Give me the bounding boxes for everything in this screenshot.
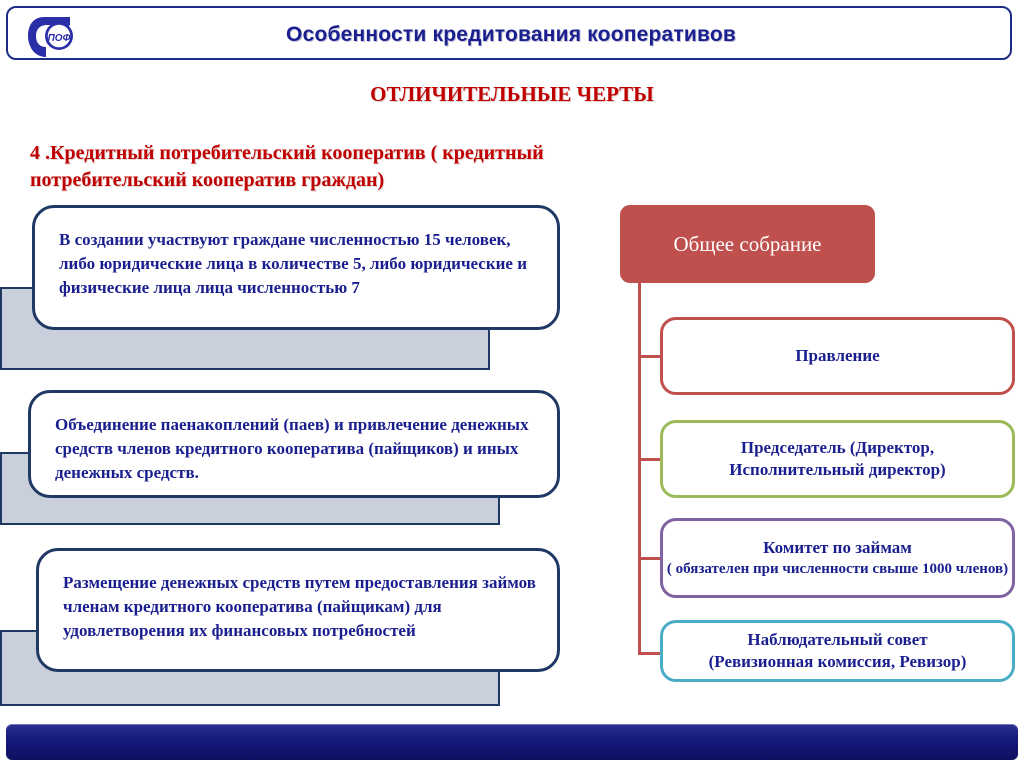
callout-bubble: Размещение денежных средств путем предос…	[36, 548, 560, 672]
section-heading: ОТЛИЧИТЕЛЬНЫЕ ЧЕРТЫ	[0, 82, 1024, 107]
org-node-loan-committee: Комитет по займам ( обязателен при числе…	[660, 518, 1015, 598]
footer-bar	[6, 724, 1018, 760]
org-node-label-main: Комитет по займам	[763, 537, 912, 559]
callout-box-1: В создании участвуют граждане численност…	[0, 205, 575, 370]
org-node-label-main: Председатель (Директор,	[741, 437, 934, 459]
callout-bubble: Объединение паенакоплений (паев) и привл…	[28, 390, 560, 498]
callout-box-3: Размещение денежных средств путем предос…	[0, 548, 575, 706]
org-node-label-main: Правление	[795, 345, 879, 367]
org-node-general-assembly: Общее собрание	[620, 205, 875, 283]
callout-text: В создании участвуют граждане численност…	[59, 228, 539, 300]
header-banner: Особенности кредитования кооперативов ПО…	[6, 6, 1012, 60]
callout-text: Размещение денежных средств путем предос…	[63, 571, 539, 643]
subheading: 4 .Кредитный потребительский кооператив …	[30, 140, 670, 194]
org-node-label-main: Наблюдательный совет	[747, 629, 927, 651]
org-node-supervisory-board: Наблюдательный совет (Ревизионная комисс…	[660, 620, 1015, 682]
org-node-board: Правление	[660, 317, 1015, 395]
org-node-label-sub: ( обязателен при численности свыше 1000 …	[667, 559, 1008, 579]
org-node-label-sub: (Ревизионная комиссия, Ревизор)	[709, 651, 967, 673]
org-connector-trunk	[638, 283, 641, 655]
org-node-chairman: Председатель (Директор, Исполнительный д…	[660, 420, 1015, 498]
logo-text: ПОФ	[48, 33, 71, 44]
callout-text: Объединение паенакоплений (паев) и привл…	[55, 413, 539, 485]
page-title: Особенности кредитования кооперативов	[8, 8, 1014, 62]
org-node-label-sub: Исполнительный директор)	[729, 459, 945, 481]
org-root-label: Общее собрание	[673, 232, 821, 257]
org-chart: Общее собрание Правление Председатель (Д…	[600, 205, 1020, 685]
callout-bubble: В создании участвуют граждане численност…	[32, 205, 560, 330]
callout-box-2: Объединение паенакоплений (паев) и привл…	[0, 390, 575, 525]
pof-logo-icon: ПОФ	[26, 14, 88, 60]
